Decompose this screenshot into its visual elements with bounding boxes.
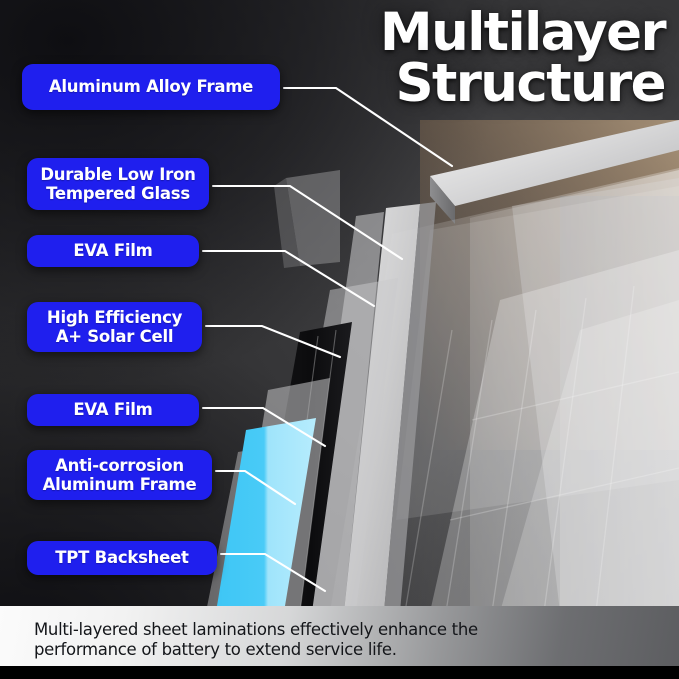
label-eva-film-top[interactable]: EVA Film xyxy=(27,235,199,267)
label-high-efficiency-solar-cell[interactable]: High Efficiency A+ Solar Cell xyxy=(27,302,202,352)
infographic-canvas: Multilayer Structure Aluminum Alloy Fram… xyxy=(0,0,679,679)
caption-band: Multi-layered sheet laminations effectiv… xyxy=(0,606,679,679)
page-title: Multilayer Structure xyxy=(335,8,665,110)
caption-text: Multi-layered sheet laminations effectiv… xyxy=(34,620,634,660)
label-aluminum-alloy-frame[interactable]: Aluminum Alloy Frame xyxy=(22,64,280,110)
label-anti-corrosion-aluminum-frame[interactable]: Anti-corrosion Aluminum Frame xyxy=(27,450,212,500)
label-durable-low-iron-tempered-glass[interactable]: Durable Low Iron Tempered Glass xyxy=(27,158,209,210)
label-eva-film-bottom[interactable]: EVA Film xyxy=(27,394,199,426)
label-tpt-backsheet[interactable]: TPT Backsheet xyxy=(27,541,217,575)
